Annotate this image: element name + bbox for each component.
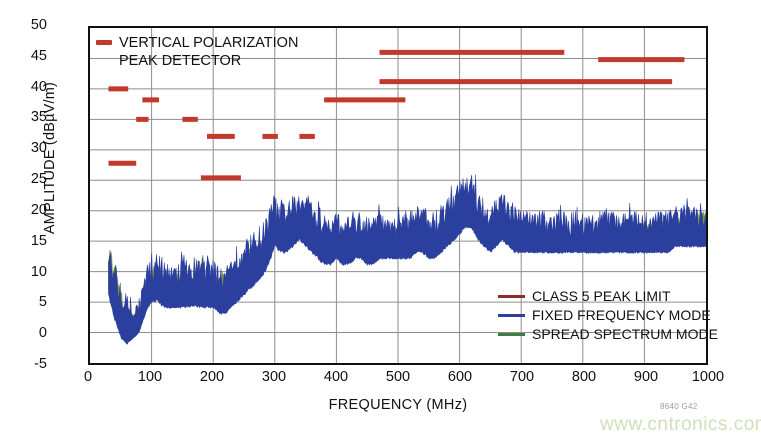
- legend-label: SPREAD SPECTRUM MODE: [532, 326, 718, 343]
- legend-line-icon: [498, 314, 525, 317]
- emi-scan-chart-figure: AMPLITUDE (dBµV/m) -50510152025303540455…: [0, 0, 761, 444]
- legend-label: CLASS 5 PEAK LIMIT: [532, 288, 671, 305]
- legend-label: FIXED FREQUENCY MODE: [532, 307, 711, 324]
- x-tick-label: 400: [306, 370, 366, 385]
- x-tick-label: 800: [554, 370, 614, 385]
- y-tick-label: -5: [7, 357, 47, 372]
- x-axis-title: FREQUENCY (MHz): [88, 397, 708, 413]
- y-tick-label: 45: [7, 49, 47, 64]
- legend-item: FIXED FREQUENCY MODE: [498, 307, 718, 324]
- y-tick-label: 0: [7, 326, 47, 341]
- limit-marker-icon: [96, 40, 112, 45]
- polarization-annotation-text: VERTICAL POLARIZATIONPEAK DETECTOR: [119, 34, 298, 70]
- legend-item: CLASS 5 PEAK LIMIT: [498, 288, 718, 305]
- figure-id-label: 8640 G42: [660, 402, 698, 411]
- x-tick-label: 300: [244, 370, 304, 385]
- annotation-line-1: VERTICAL POLARIZATION: [119, 35, 298, 51]
- x-tick-label: 0: [58, 370, 118, 385]
- y-tick-label: 35: [7, 110, 47, 125]
- site-watermark: www.cntronics.com: [600, 414, 761, 436]
- polarization-annotation: VERTICAL POLARIZATIONPEAK DETECTOR: [96, 34, 298, 70]
- x-tick-label: 600: [430, 370, 490, 385]
- legend-line-icon: [498, 295, 525, 298]
- y-tick-label: 10: [7, 265, 47, 280]
- legend-line-icon: [498, 333, 525, 336]
- legend-item: SPREAD SPECTRUM MODE: [498, 326, 718, 343]
- y-tick-label: 20: [7, 203, 47, 218]
- x-tick-label: 100: [120, 370, 180, 385]
- y-tick-label: 25: [7, 172, 47, 187]
- series-legend: CLASS 5 PEAK LIMITFIXED FREQUENCY MODESP…: [498, 288, 718, 343]
- y-tick-label: 30: [7, 141, 47, 156]
- x-tick-label: 700: [492, 370, 552, 385]
- y-tick-label: 5: [7, 295, 47, 310]
- x-tick-label: 900: [616, 370, 676, 385]
- annotation-line-2: PEAK DETECTOR: [119, 53, 241, 69]
- x-tick-label: 1000: [678, 370, 738, 385]
- y-tick-label: 40: [7, 80, 47, 95]
- y-tick-label: 15: [7, 234, 47, 249]
- y-tick-label: 50: [7, 18, 47, 33]
- x-tick-label: 500: [368, 370, 428, 385]
- x-tick-label: 200: [182, 370, 242, 385]
